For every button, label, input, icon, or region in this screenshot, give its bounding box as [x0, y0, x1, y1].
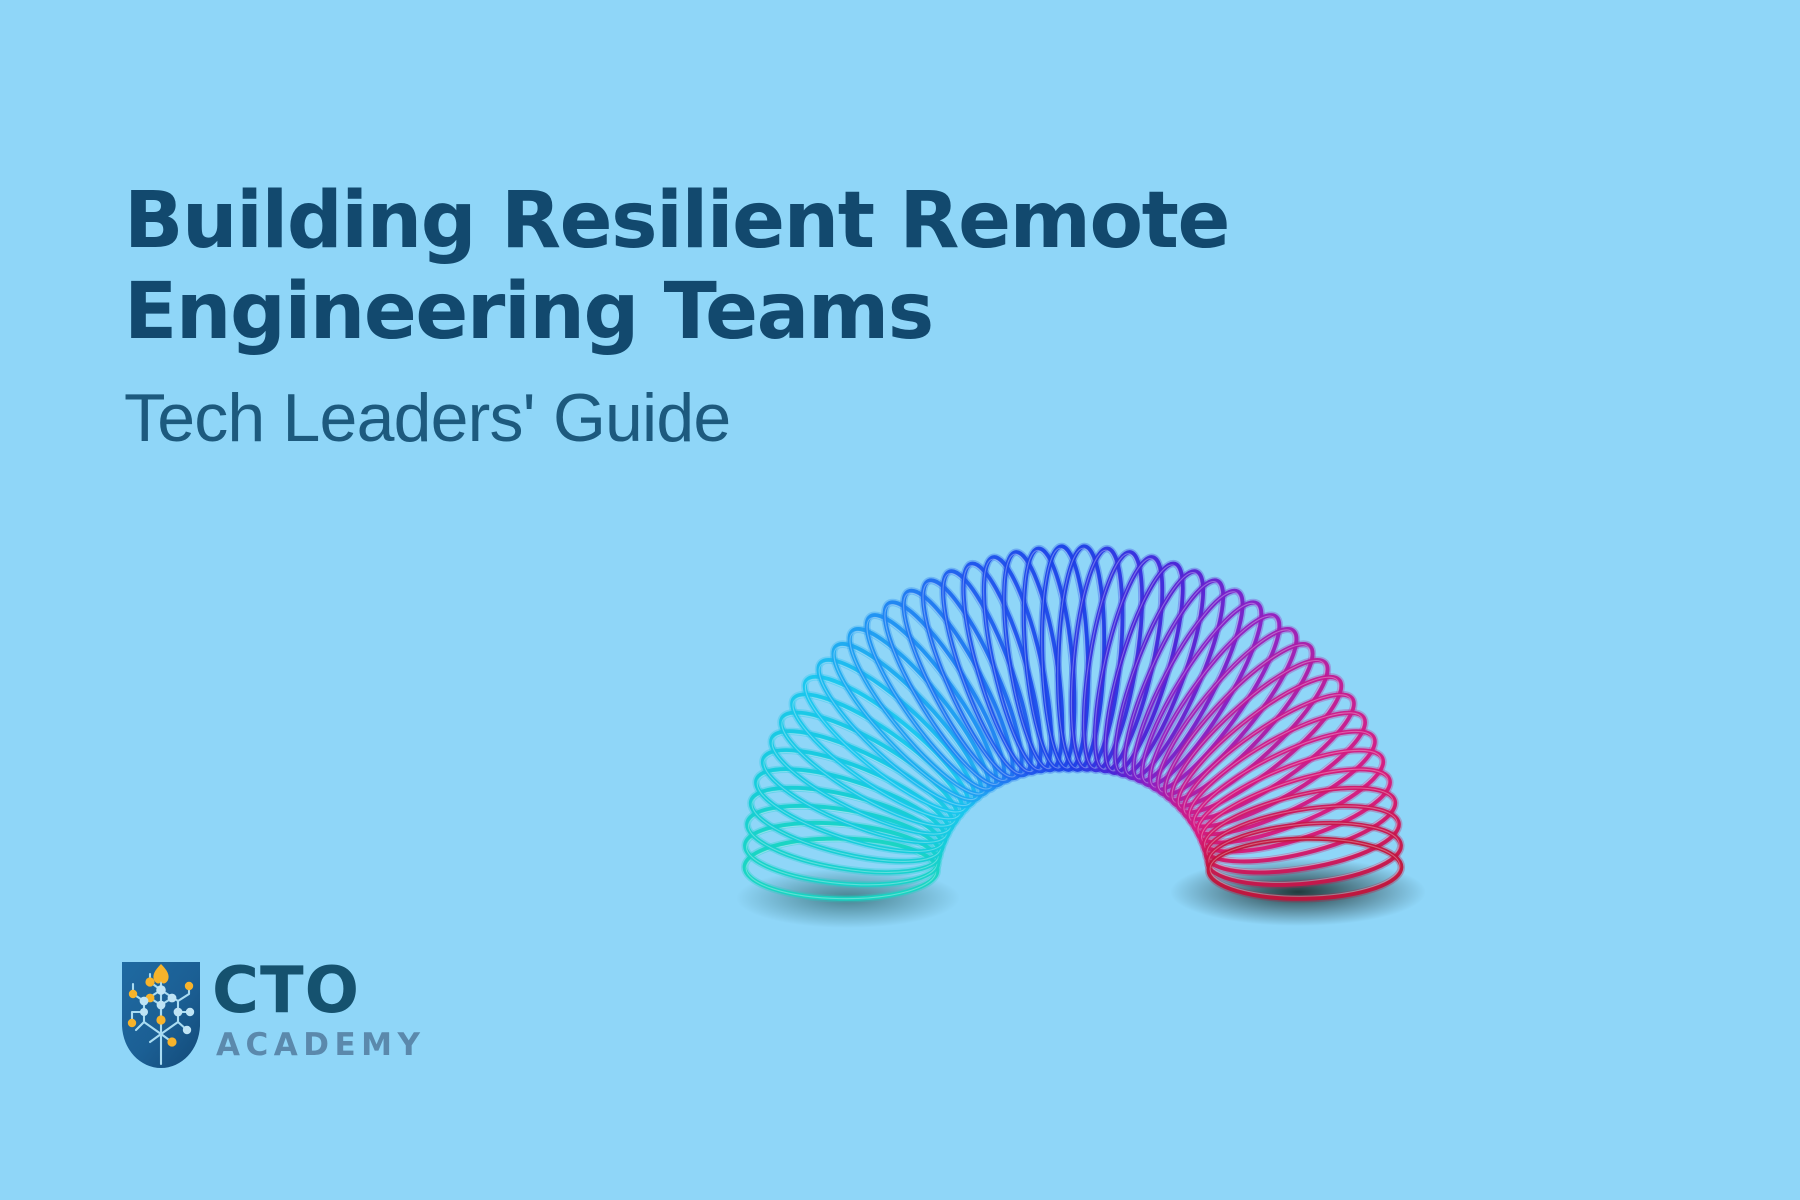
- shield-circuit-icon: [120, 960, 202, 1070]
- page-title-line-2: Engineering Teams: [124, 267, 1184, 358]
- page-title-line-1: Building Resilient Remote: [124, 176, 1184, 267]
- banner-canvas: Building Resilient Remote Engineering Te…: [0, 0, 1800, 1200]
- cto-academy-logo[interactable]: CTO ACADEMY: [120, 960, 425, 1070]
- logo-brand-text: CTO: [212, 960, 425, 1023]
- page-subtitle: Tech Leaders' Guide: [124, 379, 1184, 457]
- headline-block: Building Resilient Remote Engineering Te…: [124, 176, 1184, 457]
- rainbow-slinky-illustration: [700, 500, 1440, 940]
- logo-wordmark: CTO ACADEMY: [212, 960, 425, 1063]
- logo-subbrand-text: ACADEMY: [216, 1027, 425, 1063]
